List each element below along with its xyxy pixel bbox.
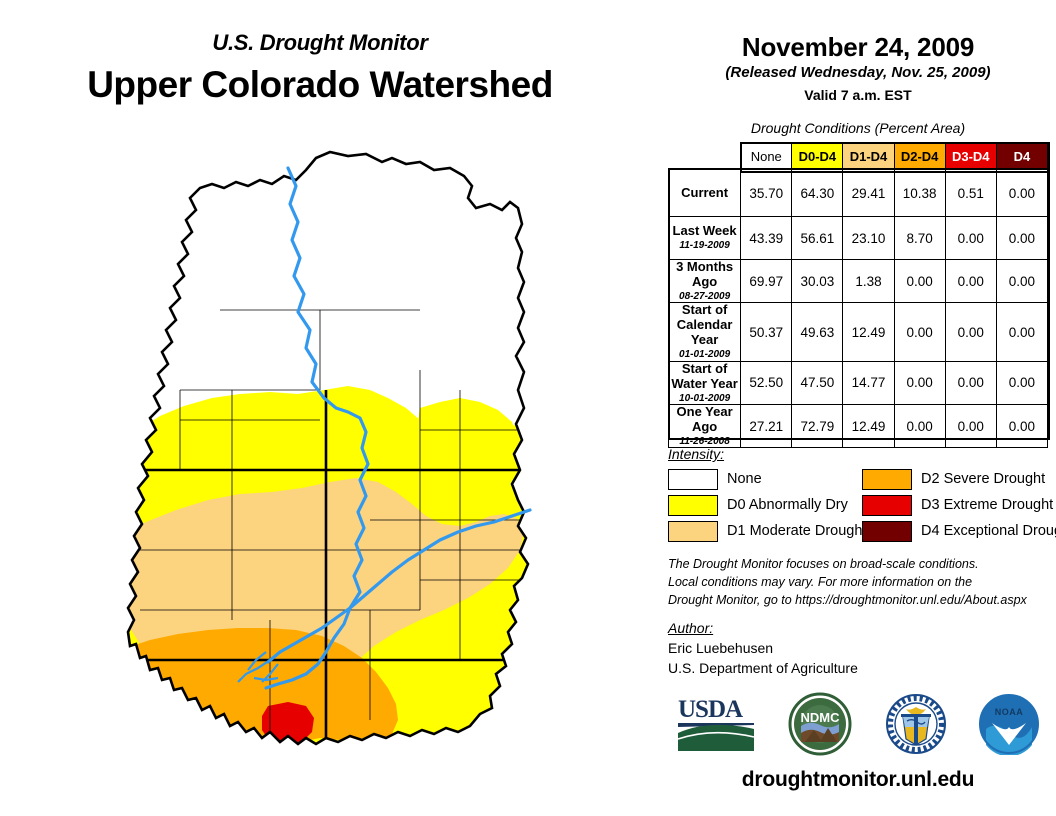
legend-label: D2 Severe Drought <box>921 471 1045 487</box>
cell-d0: 72.79 <box>792 405 843 448</box>
author-label: Author: <box>668 620 713 636</box>
drought-conditions-table: None D0-D4 D1-D4 D2-D4 D3-D4 D4 Current … <box>668 142 1048 448</box>
row-label-3-months-ago: 3 Months Ago 08-27-2009 <box>669 260 741 303</box>
row-label-text: Last Week <box>673 223 737 238</box>
swatch-d3-icon <box>862 495 912 516</box>
cell-d2: 0.00 <box>894 405 945 448</box>
cell-d0: 49.63 <box>792 303 843 361</box>
swatch-d0-icon <box>668 495 718 516</box>
swatch-d2-icon <box>862 469 912 490</box>
info-panel: November 24, 2009 (Released Wednesday, N… <box>660 0 1056 816</box>
swatch-d1-icon <box>668 521 718 542</box>
page-title: Upper Colorado Watershed <box>0 64 640 106</box>
cell-d2: 8.70 <box>894 217 945 260</box>
ndmc-logo[interactable]: NDMC <box>787 692 853 761</box>
author-agency: U.S. Department of Agriculture <box>668 658 1056 678</box>
row-label-last-week: Last Week 11-19-2009 <box>669 217 741 260</box>
usda-logo[interactable]: USDA <box>676 693 756 760</box>
release-date: (Released Wednesday, Nov. 25, 2009) <box>660 64 1056 81</box>
legend-item-none: None <box>668 469 862 490</box>
legend-label: D3 Extreme Drought <box>921 497 1053 513</box>
legend-label: D1 Moderate Drought <box>727 523 866 539</box>
legend-item-d1: D1 Moderate Drought <box>668 521 862 542</box>
legend-row: D0 Abnormally Dry D3 Extreme Drought <box>668 492 1056 518</box>
row-label-start-of-calendar-year: Start ofCalendar Year 01-01-2009 <box>669 303 741 361</box>
cell-d4: 0.00 <box>996 405 1047 448</box>
cell-d0: 56.61 <box>792 217 843 260</box>
legend-row: D1 Moderate Drought D4 Exceptional Droug… <box>668 518 1056 544</box>
cell-d2: 0.00 <box>894 361 945 404</box>
cell-none: 52.50 <box>741 361 792 404</box>
cell-d1: 23.10 <box>843 217 894 260</box>
table-row: 3 Months Ago 08-27-2009 69.97 30.03 1.38… <box>669 260 1048 303</box>
report-date: November 24, 2009 <box>660 32 1056 63</box>
table-row: Start ofWater Year 10-01-2009 52.50 47.5… <box>669 361 1048 404</box>
row-label-current: Current <box>669 170 741 217</box>
col-header-d4: D4 <box>996 143 1047 170</box>
cell-d1: 14.77 <box>843 361 894 404</box>
cell-d2: 0.00 <box>894 303 945 361</box>
cell-d4: 0.00 <box>996 170 1047 217</box>
cell-d4: 0.00 <box>996 361 1047 404</box>
legend-item-d2: D2 Severe Drought <box>862 469 1056 490</box>
page-subtitle: U.S. Drought Monitor <box>0 30 640 56</box>
note-line-1: The Drought Monitor focuses on broad-sca… <box>668 556 1056 574</box>
svg-text:NDMC: NDMC <box>801 710 841 725</box>
author-block: Eric Luebehusen U.S. Department of Agric… <box>668 638 1056 678</box>
col-header-d1: D1-D4 <box>843 143 894 170</box>
cell-d0: 30.03 <box>792 260 843 303</box>
col-header-d2: D2-D4 <box>894 143 945 170</box>
cell-d3: 0.00 <box>945 260 996 303</box>
legend-label: D4 Exceptional Drought <box>921 523 1056 539</box>
row-label-text: One Year Ago <box>677 404 733 434</box>
author-name: Eric Luebehusen <box>668 638 1056 658</box>
upper-colorado-watershed-drought-map[interactable] <box>120 140 540 790</box>
row-label-text: 3 Months Ago <box>676 259 733 289</box>
swatch-d4-icon <box>862 521 912 542</box>
cell-d2: 0.00 <box>894 260 945 303</box>
cell-d3: 0.00 <box>945 405 996 448</box>
col-header-none: None <box>741 143 792 170</box>
cell-d2: 10.38 <box>894 170 945 217</box>
table-corner-cell <box>669 143 741 170</box>
cell-none: 50.37 <box>741 303 792 361</box>
website-url[interactable]: droughtmonitor.unl.edu <box>660 768 1056 792</box>
cell-none: 43.39 <box>741 217 792 260</box>
disclaimer-note: The Drought Monitor focuses on broad-sca… <box>668 556 1056 609</box>
svg-text:USDA: USDA <box>678 696 743 723</box>
table-body: Current 35.70 64.30 29.41 10.38 0.51 0.0… <box>669 170 1048 448</box>
svg-text:NOAA: NOAA <box>995 707 1024 717</box>
table-row: Current 35.70 64.30 29.41 10.38 0.51 0.0… <box>669 170 1048 217</box>
cell-d1: 12.49 <box>843 303 894 361</box>
row-label-date: 11-19-2009 <box>669 240 740 252</box>
legend-label: None <box>727 471 762 487</box>
legend-item-d0: D0 Abnormally Dry <box>668 495 862 516</box>
cell-none: 69.97 <box>741 260 792 303</box>
drought-monitor-page: U.S. Drought Monitor Upper Colorado Wate… <box>0 0 1056 816</box>
cell-d1: 1.38 <box>843 260 894 303</box>
cell-d3: 0.51 <box>945 170 996 217</box>
cell-d4: 0.00 <box>996 260 1047 303</box>
table-header-row: None D0-D4 D1-D4 D2-D4 D3-D4 D4 <box>669 143 1048 170</box>
cell-d4: 0.00 <box>996 217 1047 260</box>
cell-d0: 47.50 <box>792 361 843 404</box>
cell-d3: 0.00 <box>945 217 996 260</box>
legend-item-d4: D4 Exceptional Drought <box>862 521 1056 542</box>
table-row: Start ofCalendar Year 01-01-2009 50.37 4… <box>669 303 1048 361</box>
row-label-date: 10-01-2009 <box>669 393 740 405</box>
legend-row: None D2 Severe Drought <box>668 466 1056 492</box>
note-line-3: Drought Monitor, go to https://droughtmo… <box>668 592 1056 610</box>
row-label-text: Start ofCalendar Year <box>677 302 733 347</box>
row-label-text: Start ofWater Year <box>671 361 738 391</box>
cell-d1: 12.49 <box>843 405 894 448</box>
row-label-date: 08-27-2009 <box>669 291 740 303</box>
col-header-d3: D3-D4 <box>945 143 996 170</box>
cell-d0: 64.30 <box>792 170 843 217</box>
usdc-seal-logo[interactable] <box>885 693 947 760</box>
row-label-text: Current <box>681 185 728 200</box>
swatch-none-icon <box>668 469 718 490</box>
map-panel: U.S. Drought Monitor Upper Colorado Wate… <box>0 0 640 816</box>
row-label-date: 01-01-2009 <box>669 349 740 361</box>
col-header-d0: D0-D4 <box>792 143 843 170</box>
legend-item-d3: D3 Extreme Drought <box>862 495 1056 516</box>
table-row: One Year Ago 11-26-2008 27.21 72.79 12.4… <box>669 405 1048 448</box>
cell-d3: 0.00 <box>945 361 996 404</box>
intensity-legend: None D2 Severe Drought D0 Abnormally Dry… <box>668 466 1056 544</box>
cell-d3: 0.00 <box>945 303 996 361</box>
agency-logos: USDA NDMC <box>660 688 1056 764</box>
noaa-logo[interactable]: NOAA <box>978 693 1040 760</box>
legend-title: Intensity: <box>668 446 724 462</box>
cell-d1: 29.41 <box>843 170 894 217</box>
row-label-start-of-water-year: Start ofWater Year 10-01-2009 <box>669 361 741 404</box>
cell-none: 35.70 <box>741 170 792 217</box>
row-label-one-year-ago: One Year Ago 11-26-2008 <box>669 405 741 448</box>
valid-time: Valid 7 a.m. EST <box>660 87 1056 103</box>
table-caption: Drought Conditions (Percent Area) <box>660 120 1056 136</box>
cell-none: 27.21 <box>741 405 792 448</box>
table-row: Last Week 11-19-2009 43.39 56.61 23.10 8… <box>669 217 1048 260</box>
legend-label: D0 Abnormally Dry <box>727 497 848 513</box>
cell-d4: 0.00 <box>996 303 1047 361</box>
note-line-2: Local conditions may vary. For more info… <box>668 574 1056 592</box>
